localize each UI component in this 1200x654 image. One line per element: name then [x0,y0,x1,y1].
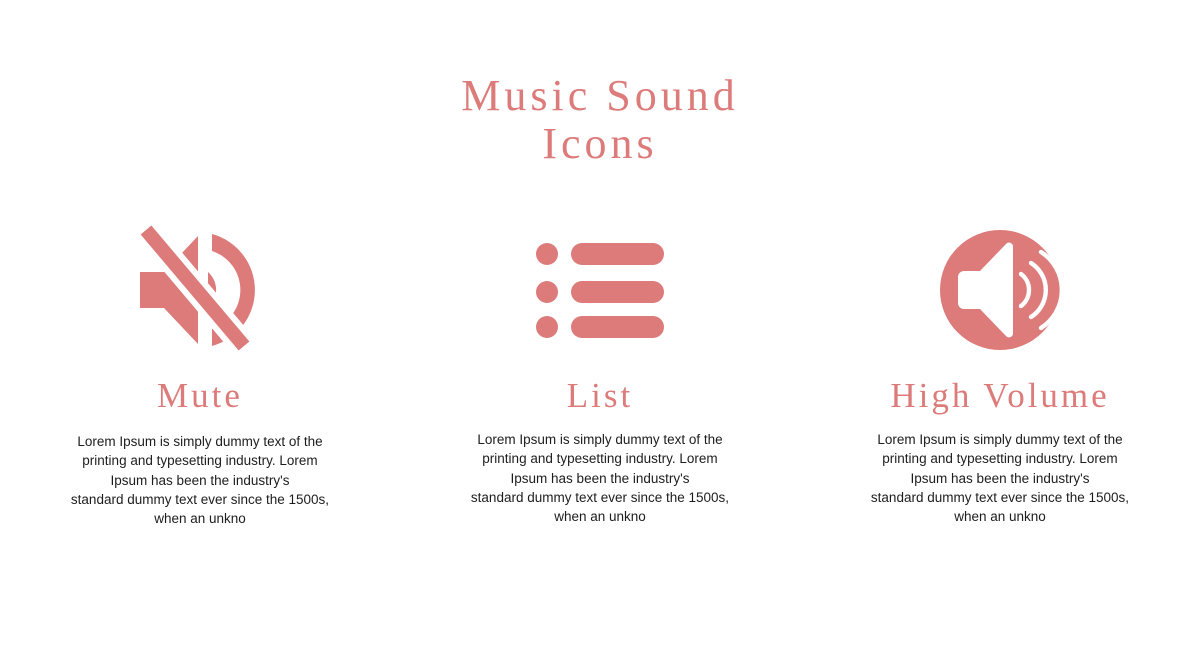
column-body-list: Lorem Ipsum is simply dummy text of the … [463,430,738,526]
mute-icon-slot[interactable] [140,220,260,360]
list-bar-1 [571,243,664,265]
column-label-high-volume: High Volume [890,376,1109,416]
list-bullet-2 [536,281,558,303]
page-title: Music Sound Icons [0,72,1200,168]
list-bar-3 [571,316,664,338]
column-body-mute: Lorem Ipsum is simply dummy text of the … [63,432,338,528]
column-body-high-volume: Lorem Ipsum is simply dummy text of the … [863,430,1138,526]
mute-speaker-slash-icon[interactable] [140,228,260,352]
icon-columns: Mute Lorem Ipsum is simply dummy text of… [0,220,1200,528]
column-label-list: List [567,376,633,416]
column-high-volume[interactable]: High Volume Lorem Ipsum is simply dummy … [800,220,1200,526]
column-mute[interactable]: Mute Lorem Ipsum is simply dummy text of… [0,220,400,528]
high-volume-speaker-icon[interactable] [940,230,1060,350]
list-bullet-1 [536,243,558,265]
list-bullets-icon[interactable] [536,242,664,338]
slide-canvas: Music Sound Icons [0,0,1200,654]
column-list[interactable]: List Lorem Ipsum is simply dummy text of… [400,220,800,526]
high-volume-icon-slot[interactable] [940,220,1060,360]
column-label-mute: Mute [157,376,243,416]
list-icon-slot[interactable] [536,220,664,360]
list-bar-2 [571,281,664,303]
list-bullet-3 [536,316,558,338]
